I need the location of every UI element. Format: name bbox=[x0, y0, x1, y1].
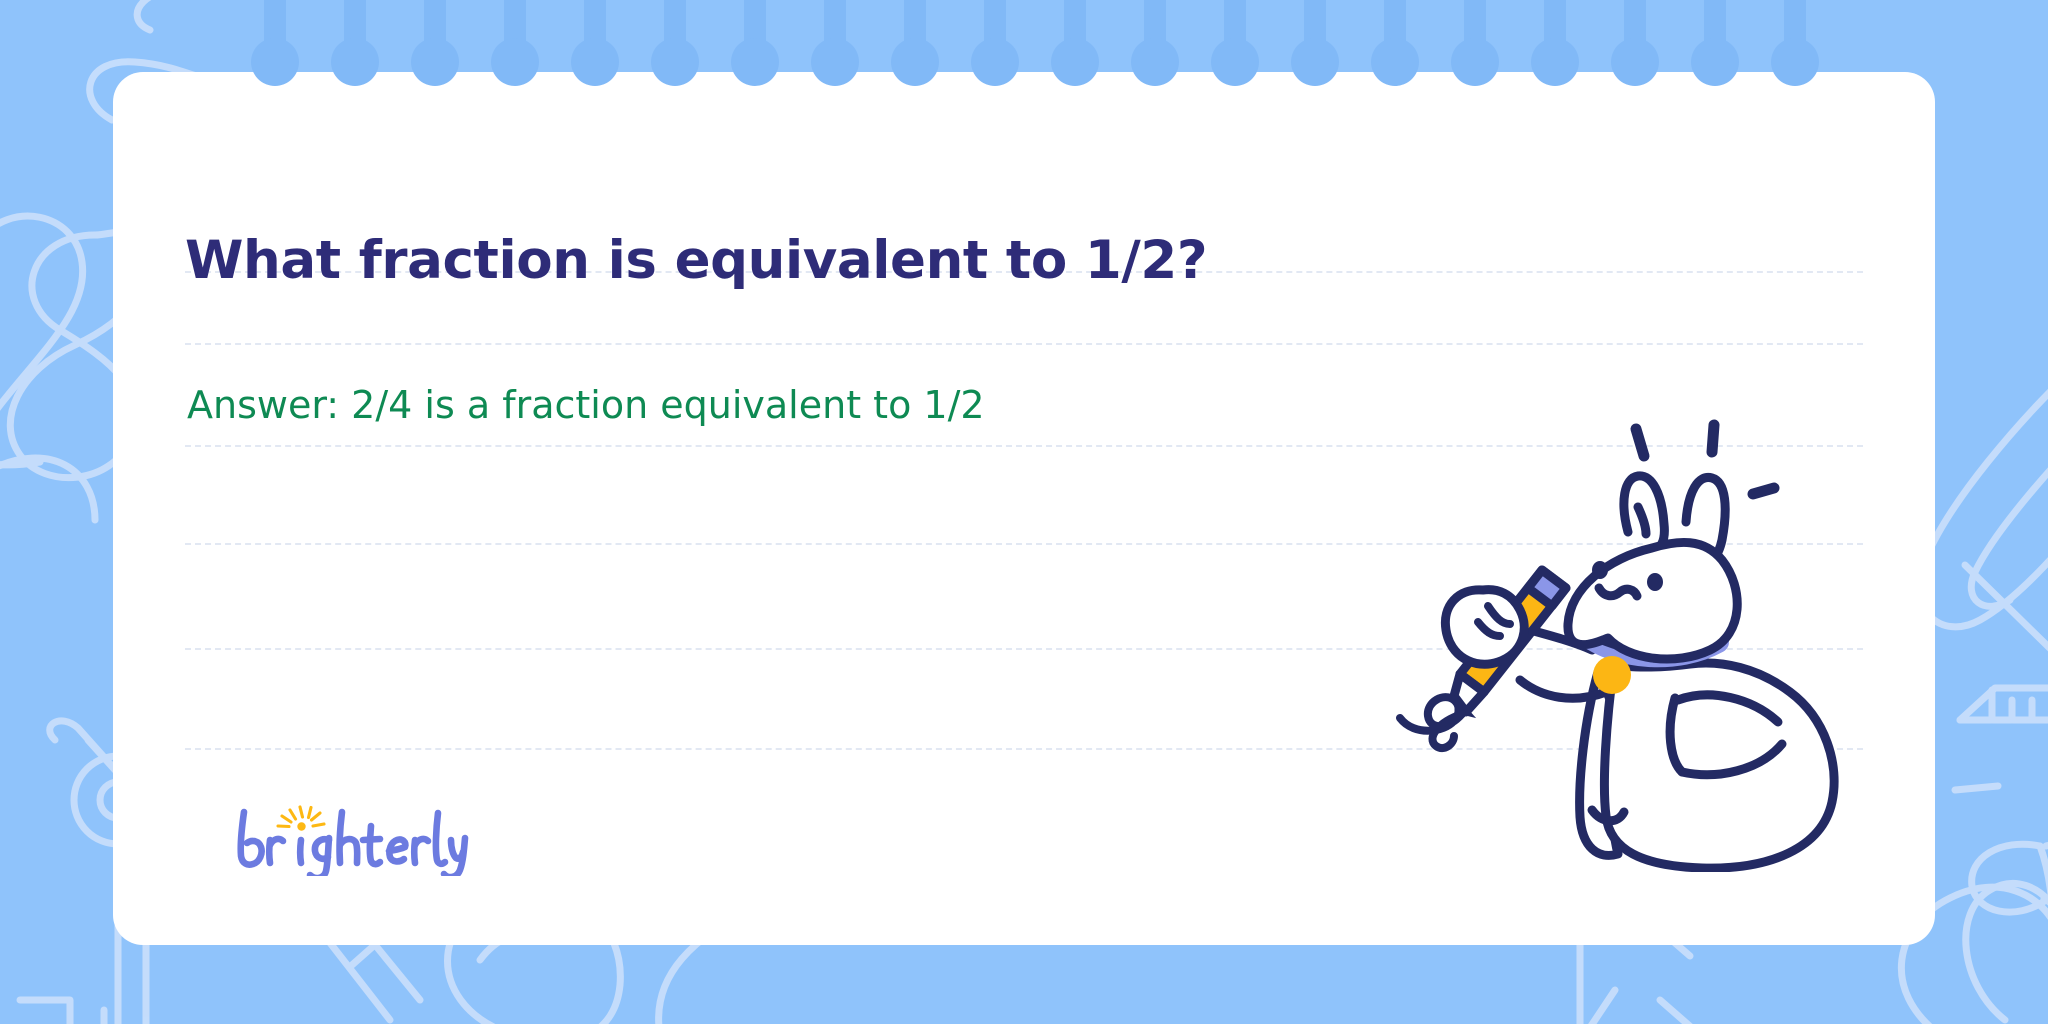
doodle-loop-topleft bbox=[137, 0, 330, 30]
doodle-number-two bbox=[0, 216, 83, 465]
doodle-ruler-triangle bbox=[1960, 565, 2048, 722]
bunny-eye-right bbox=[1647, 573, 1663, 591]
bunny-collar-bell bbox=[1593, 656, 1631, 694]
answer-text: Answer: 2/4 is a fraction equivalent to … bbox=[187, 383, 985, 429]
pencil-squiggle-tail bbox=[1432, 714, 1462, 748]
doodle-frame-bottom bbox=[1585, 990, 1700, 1024]
bunny-mascot-illustration bbox=[1370, 392, 1870, 872]
doodle-paperclip bbox=[1919, 372, 2048, 627]
brighterly-wordmark bbox=[241, 812, 465, 876]
question-title: What fraction is equivalent to 1/2? bbox=[185, 232, 1685, 289]
poster-canvas: What fraction is equivalent to 1/2? Answ… bbox=[0, 0, 2048, 1024]
doodle-dash-right bbox=[1955, 786, 1998, 790]
bunny-eye-left bbox=[1592, 561, 1608, 579]
sunburst-center bbox=[297, 822, 305, 830]
bunny-mouth bbox=[1599, 588, 1637, 596]
doodle-triangle-left bbox=[20, 1000, 70, 1024]
brighterly-logo[interactable] bbox=[232, 800, 472, 876]
ruled-line bbox=[185, 343, 1863, 345]
bunny-head bbox=[1568, 476, 1737, 659]
doodle-apple bbox=[1966, 843, 2048, 1024]
doodle-curve-left bbox=[0, 458, 95, 520]
bunny-paw bbox=[1445, 590, 1524, 665]
bunny-body bbox=[1580, 663, 1834, 868]
